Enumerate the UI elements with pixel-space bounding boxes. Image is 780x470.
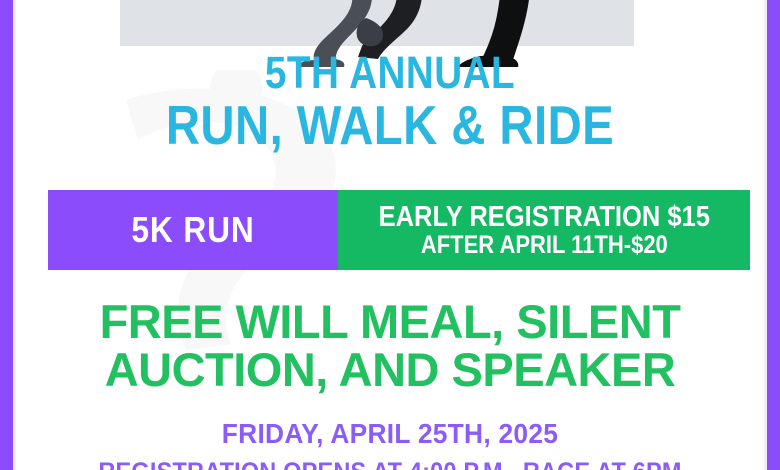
flyer-canvas: 5TH ANNUAL RUN, WALK & RIDE 5K RUN EARLY… bbox=[16, 0, 764, 470]
registration-banner: 5K RUN EARLY REGISTRATION $15 AFTER APRI… bbox=[48, 190, 750, 270]
event-features-line-2: AUCTION, AND SPEAKER bbox=[16, 346, 764, 394]
headline-block: 5TH ANNUAL RUN, WALK & RIDE bbox=[16, 52, 764, 151]
left-border-bar bbox=[0, 0, 13, 470]
event-times-label: REGISTRATION OPENS AT 4:00 P.M., RACE AT… bbox=[38, 458, 741, 470]
race-type-label: 5K RUN bbox=[131, 209, 254, 251]
headline-line-1: 5TH ANNUAL bbox=[68, 52, 711, 95]
event-features-line-1: FREE WILL MEAL, SILENT bbox=[16, 298, 764, 346]
registration-price-badge: EARLY REGISTRATION $15 AFTER APRIL 11TH-… bbox=[338, 190, 750, 270]
event-date-label: FRIDAY, APRIL 25TH, 2025 bbox=[38, 418, 741, 450]
right-border-bar bbox=[767, 0, 780, 470]
right-border-inner-line bbox=[764, 0, 767, 470]
event-features-block: FREE WILL MEAL, SILENT AUCTION, AND SPEA… bbox=[16, 298, 764, 395]
event-flyer: 5TH ANNUAL RUN, WALK & RIDE 5K RUN EARLY… bbox=[0, 0, 780, 470]
early-registration-price-label: EARLY REGISTRATION $15 bbox=[378, 202, 709, 232]
late-registration-price-label: AFTER APRIL 11TH-$20 bbox=[421, 232, 668, 258]
headline-line-2: RUN, WALK & RIDE bbox=[68, 99, 711, 151]
race-type-badge: 5K RUN bbox=[48, 190, 338, 270]
event-details-block: FRIDAY, APRIL 25TH, 2025 REGISTRATION OP… bbox=[16, 418, 764, 470]
